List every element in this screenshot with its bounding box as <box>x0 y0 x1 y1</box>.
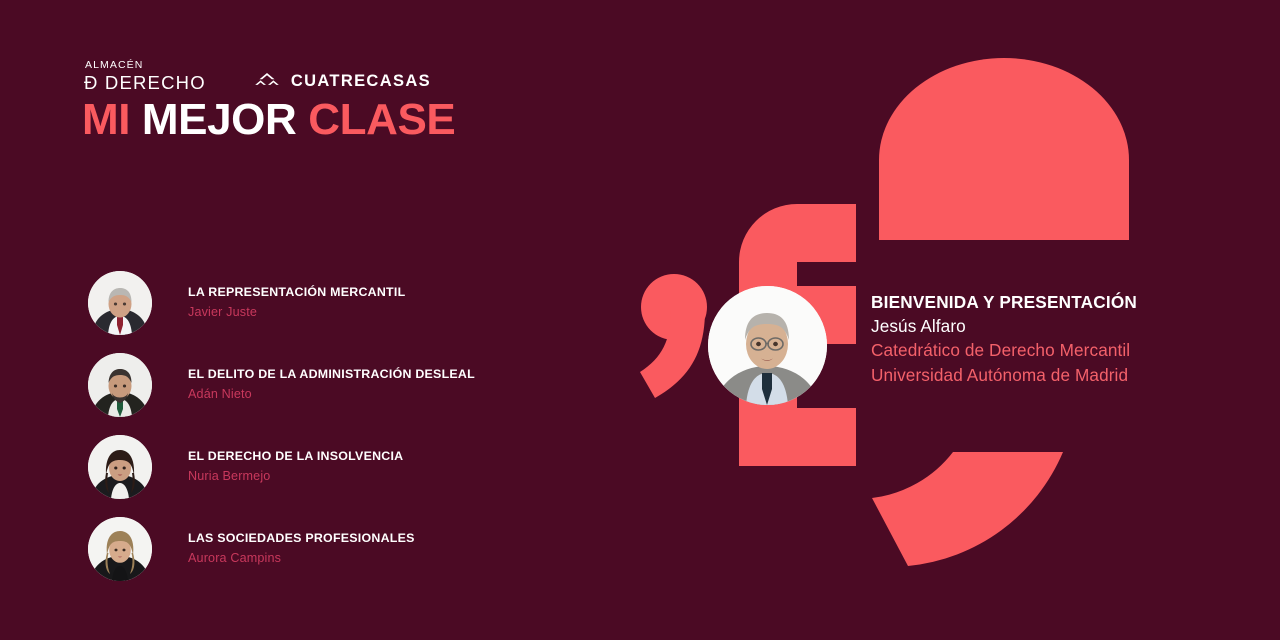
list-item-text: LAS SOCIEDADES PROFESIONALES Aurora Camp… <box>188 530 415 568</box>
page-title-word-1: MI <box>82 95 130 144</box>
speaker-topic: LA REPRESENTACIÓN MERCANTIL <box>188 284 405 301</box>
list-item[interactable]: LA REPRESENTACIÓN MERCANTIL Javier Juste <box>88 262 558 344</box>
speaker-name: Aurora Campins <box>188 549 415 568</box>
slide-canvas: ALMACÉN Ð DERECHO CUATRECASAS MI MEJOR C… <box>0 0 1280 640</box>
featured-speaker-name: Jesús Alfaro <box>871 314 1241 338</box>
featured-speaker-role: Catedrático de Derecho Mercantil <box>871 338 1241 362</box>
speaker-topic: EL DERECHO DE LA INSOLVENCIA <box>188 448 403 465</box>
list-item[interactable]: EL DELITO DE LA ADMINISTRACIÓN DESLEAL A… <box>88 344 558 426</box>
logo-cuatrecasas-wordmark: CUATRECASAS <box>291 72 431 91</box>
featured-speaker-avatar <box>708 286 827 405</box>
list-item-text: LA REPRESENTACIÓN MERCANTIL Javier Juste <box>188 284 405 322</box>
page-title-word-2: MEJOR <box>142 95 296 144</box>
logo-cuatrecasas: CUATRECASAS <box>254 72 431 92</box>
list-item[interactable]: EL DERECHO DE LA INSOLVENCIA Nuria Berme… <box>88 426 558 508</box>
featured-speaker-organization: Universidad Autónoma de Madrid <box>871 363 1241 387</box>
featured-heading: BIENVENIDA Y PRESENTACIÓN <box>871 291 1241 314</box>
avatar <box>88 517 152 581</box>
brand-row: ALMACÉN Ð DERECHO CUATRECASAS <box>84 58 431 92</box>
avatar <box>88 271 152 335</box>
speaker-name: Nuria Bermejo <box>188 467 403 486</box>
speaker-topic: EL DELITO DE LA ADMINISTRACIÓN DESLEAL <box>188 366 475 383</box>
speaker-name: Adán Nieto <box>188 385 475 404</box>
comma-shape <box>641 274 707 340</box>
dome-shape <box>879 58 1129 240</box>
avatar <box>88 353 152 417</box>
logo-almacen-line2: Ð DERECHO <box>84 74 206 93</box>
logo-almacen-line1: ALMACÉN <box>85 60 206 71</box>
page-title-word-3: CLASE <box>308 95 455 144</box>
page-title: MI MEJOR CLASE <box>82 98 455 142</box>
avatar <box>88 435 152 499</box>
list-item-text: EL DERECHO DE LA INSOLVENCIA Nuria Berme… <box>188 448 403 486</box>
logo-almacen-de-derecho: ALMACÉN Ð DERECHO <box>84 60 206 92</box>
list-item[interactable]: LAS SOCIEDADES PROFESIONALES Aurora Camp… <box>88 508 558 590</box>
chevron-stack-icon <box>254 73 280 91</box>
featured-speaker-info: BIENVENIDA Y PRESENTACIÓN Jesús Alfaro C… <box>871 291 1241 387</box>
comma-tail-shape <box>640 310 705 398</box>
speaker-name: Javier Juste <box>188 303 405 322</box>
speaker-list: LA REPRESENTACIÓN MERCANTIL Javier Juste <box>88 262 558 590</box>
speaker-topic: LAS SOCIEDADES PROFESIONALES <box>188 530 415 547</box>
list-item-text: EL DELITO DE LA ADMINISTRACIÓN DESLEAL A… <box>188 366 475 404</box>
arc-wedge-shape <box>872 452 1063 566</box>
